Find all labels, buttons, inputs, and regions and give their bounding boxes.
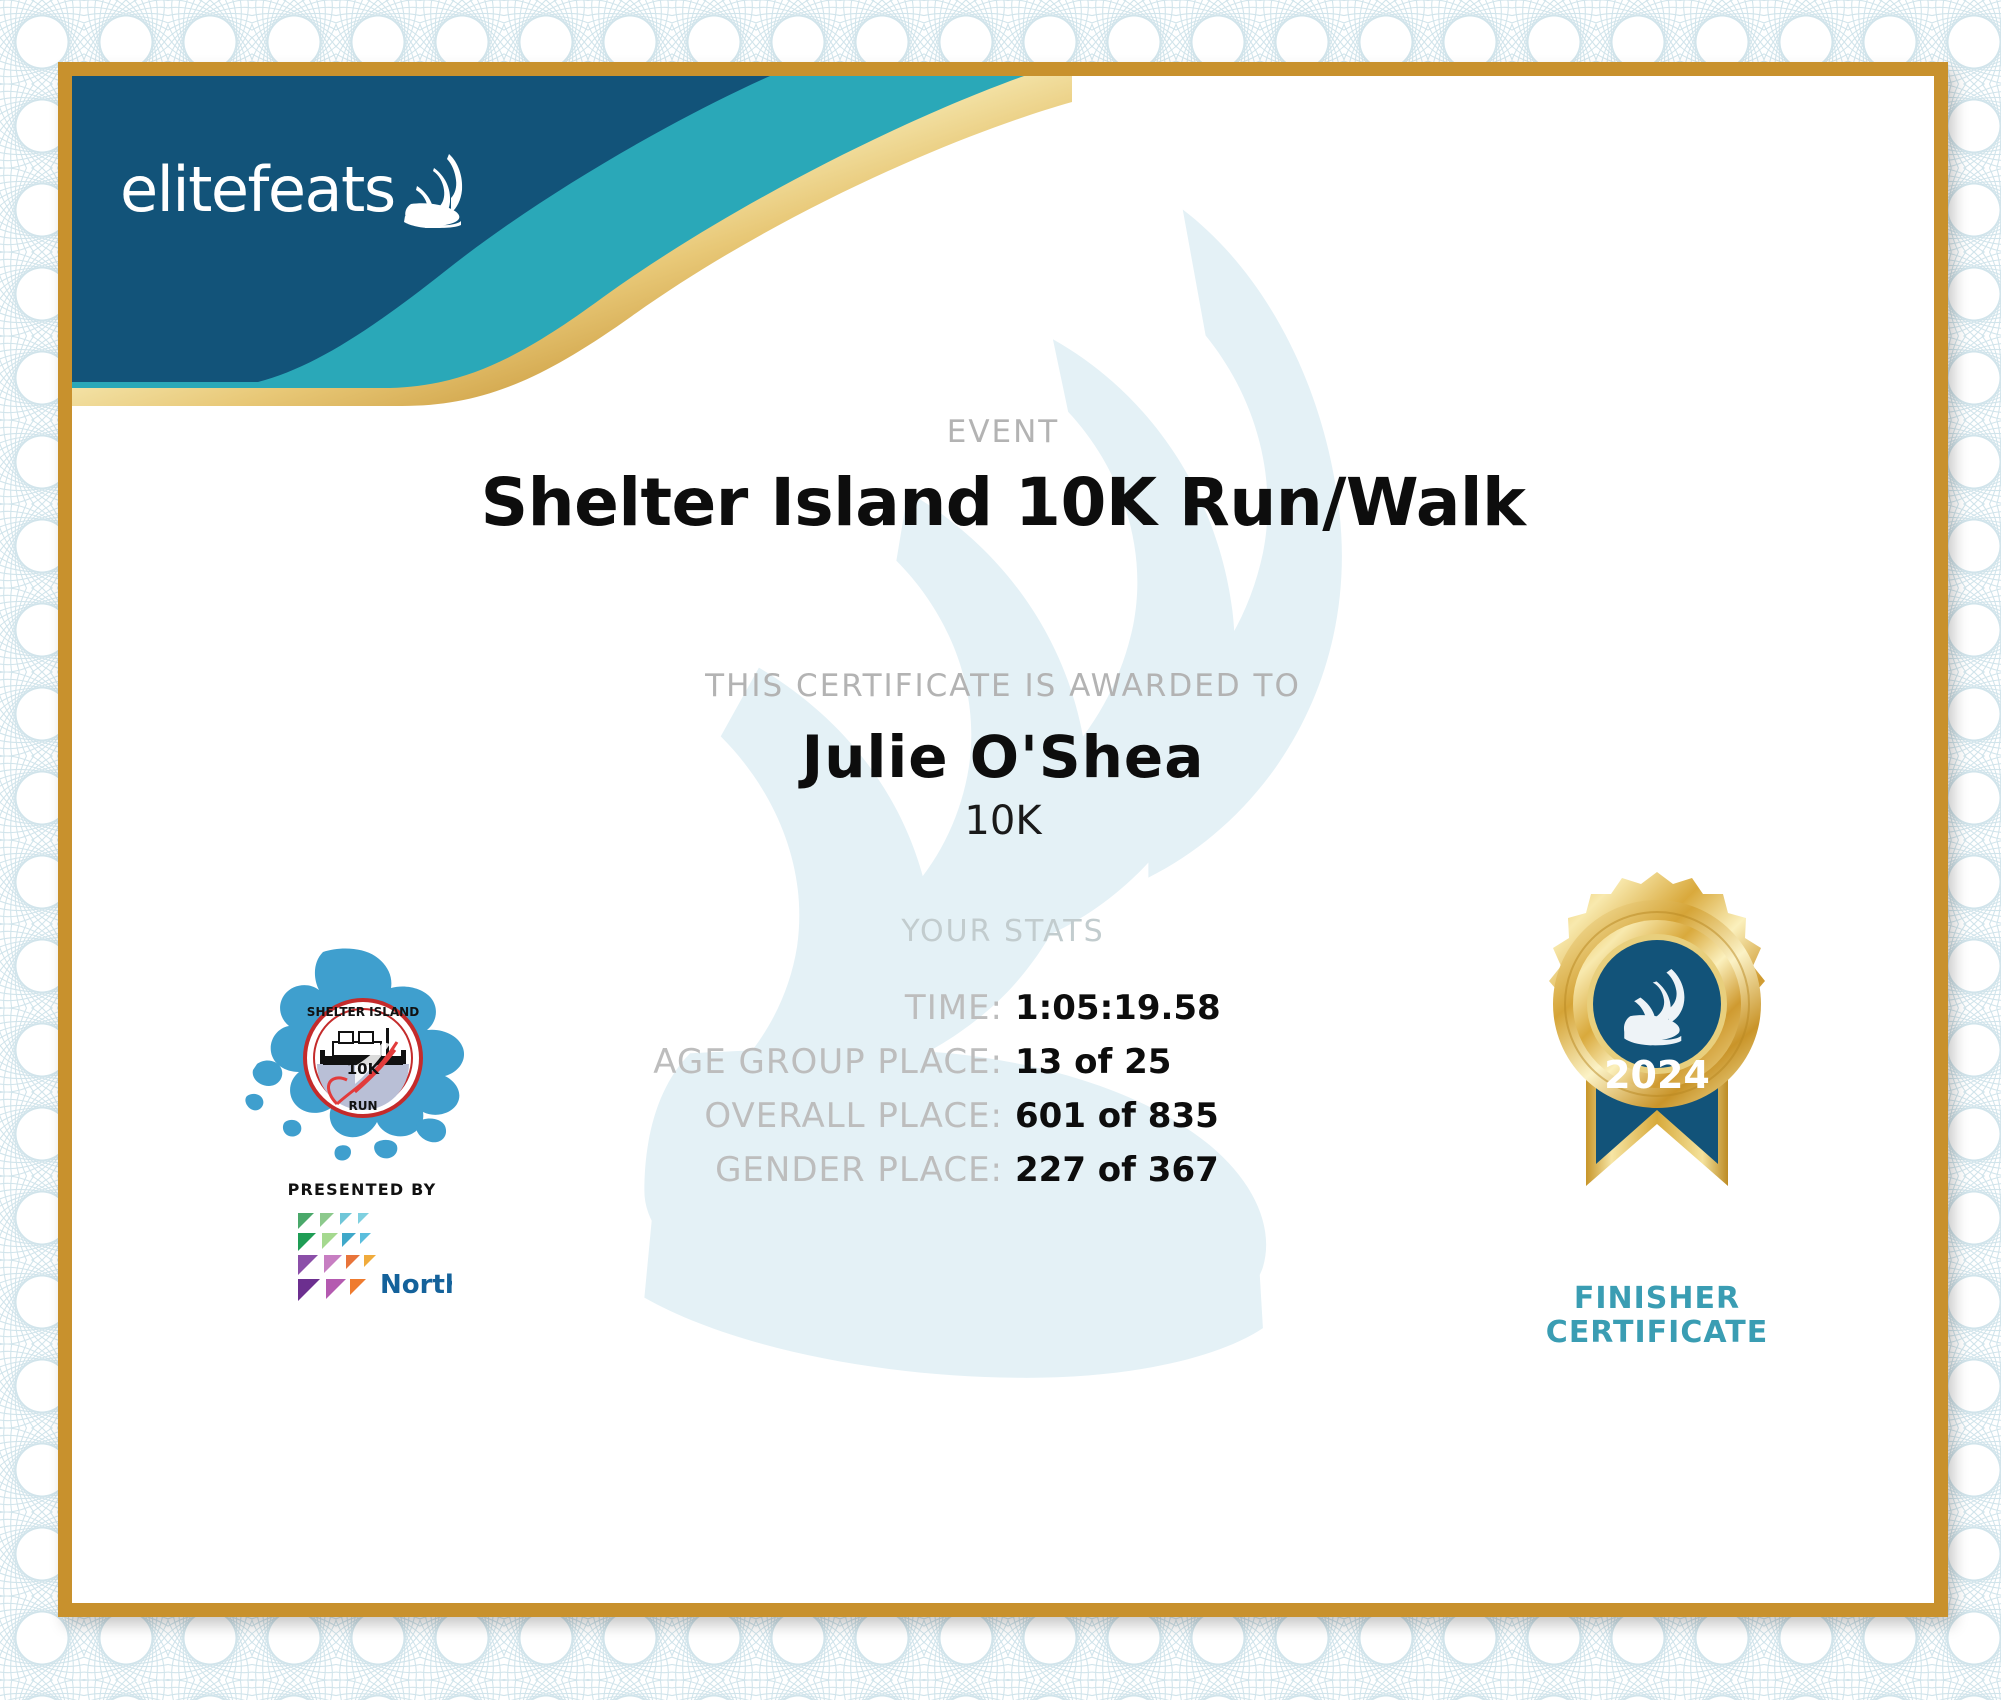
stat-value: 13 of 25 <box>1003 1042 1473 1082</box>
winged-foot-icon <box>401 150 471 228</box>
stat-label: GENDER PLACE: <box>533 1150 1003 1190</box>
awarded-to-label: THIS CERTIFICATE IS AWARDED TO <box>72 668 1934 704</box>
certificate-card: elitefeats EVENT Shelter Island 10K Run/… <box>58 62 1948 1617</box>
stat-label: OVERALL PLACE: <box>533 1096 1003 1136</box>
elitefeats-logo: elitefeats <box>120 150 471 228</box>
stat-value: 601 of 835 <box>1003 1096 1473 1136</box>
race-distance: 10K <box>72 798 1934 844</box>
shelter-island-10k-run-logo-icon: SHELTER ISLAND 10K RUN <box>227 946 497 1176</box>
stat-label: AGE GROUP PLACE: <box>533 1042 1003 1082</box>
race-logo-ring-top: SHELTER ISLAND <box>307 1005 419 1019</box>
finisher-caption: FINISHER CERTIFICATE <box>1512 1282 1802 1349</box>
stat-label: TIME: <box>533 988 1003 1028</box>
brand-wordmark: elitefeats <box>120 153 395 226</box>
event-title: Shelter Island 10K Run/Walk <box>72 464 1934 541</box>
stat-value: 1:05:19.58 <box>1003 988 1473 1028</box>
race-logo-center: 10K <box>347 1060 381 1078</box>
finisher-caption-line1: FINISHER <box>1512 1282 1802 1316</box>
event-label: EVENT <box>72 414 1934 450</box>
certificate-page: elitefeats EVENT Shelter Island 10K Run/… <box>0 0 2001 1700</box>
medal-year: 2024 <box>1604 1053 1710 1097</box>
finisher-caption-line2: CERTIFICATE <box>1512 1316 1802 1350</box>
sponsor-name-line1: Northwell <box>380 1270 452 1300</box>
sponsor-name-line2: Health <box>380 1301 452 1302</box>
recipient-name: Julie O'Shea <box>72 723 1934 791</box>
race-logo-ring-bottom: RUN <box>348 1099 377 1113</box>
certificate-inner: elitefeats EVENT Shelter Island 10K Run/… <box>72 76 1934 1603</box>
northwell-health-logo-icon: Northwell Health <box>272 1207 452 1302</box>
stat-value: 227 of 367 <box>1003 1150 1473 1190</box>
race-logo-block: SHELTER ISLAND 10K RUN PRESENTED BY <box>212 946 512 1302</box>
presented-by-label: PRESENTED BY <box>212 1180 512 1199</box>
finisher-medal-block: 2024 FINISHER CERTIFICATE <box>1512 856 1802 1349</box>
certificate-content: EVENT Shelter Island 10K Run/Walk THIS C… <box>72 76 1934 1603</box>
gold-medal-rosette-icon: 2024 <box>1512 856 1802 1276</box>
